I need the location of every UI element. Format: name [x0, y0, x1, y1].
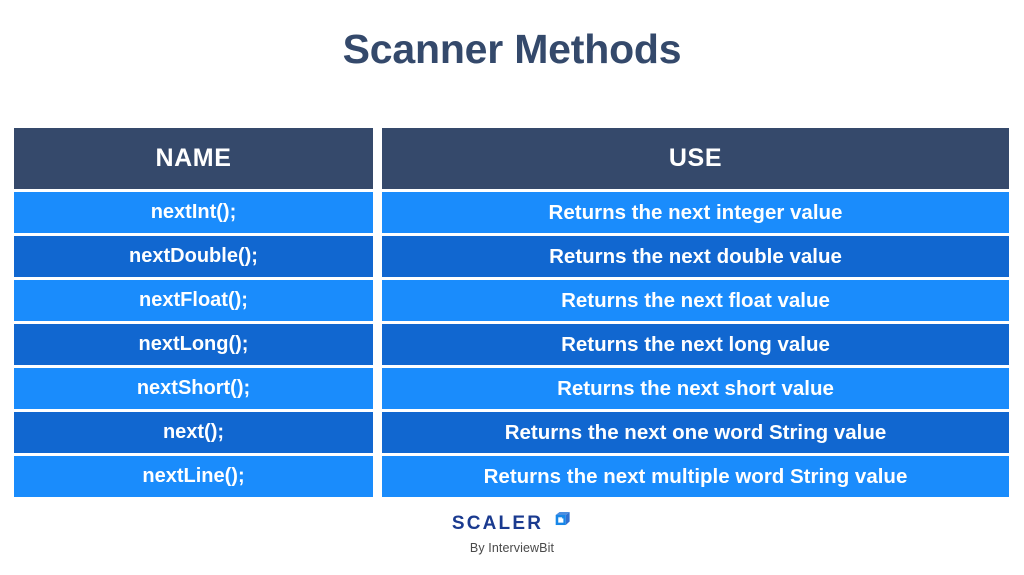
column-gap [373, 456, 382, 497]
cell-method-use: Returns the next integer value [382, 192, 1009, 233]
page-title: Scanner Methods [0, 26, 1024, 73]
table-row: nextFloat(); Returns the next float valu… [14, 280, 1009, 321]
cube-icon [550, 510, 572, 537]
column-gap [373, 280, 382, 321]
column-gap [373, 236, 382, 277]
cell-method-name: nextDouble(); [14, 236, 373, 277]
cell-method-use: Returns the next short value [382, 368, 1009, 409]
table-row: next(); Returns the next one word String… [14, 412, 1009, 453]
cell-method-name: next(); [14, 412, 373, 453]
column-gap [373, 128, 382, 189]
cell-method-use: Returns the next double value [382, 236, 1009, 277]
cell-method-use: Returns the next float value [382, 280, 1009, 321]
cell-method-use: Returns the next one word String value [382, 412, 1009, 453]
cell-method-name: nextInt(); [14, 192, 373, 233]
footer-branding: SCALER By InterviewBit [0, 510, 1024, 555]
table-row: nextLong(); Returns the next long value [14, 324, 1009, 365]
cell-method-name: nextLine(); [14, 456, 373, 497]
brand-tagline: By InterviewBit [0, 541, 1024, 555]
cell-method-name: nextLong(); [14, 324, 373, 365]
table-header-row: NAME USE [14, 128, 1009, 189]
table-row: nextDouble(); Returns the next double va… [14, 236, 1009, 277]
scanner-methods-table: NAME USE nextInt(); Returns the next int… [14, 128, 1009, 500]
cell-method-use: Returns the next long value [382, 324, 1009, 365]
column-gap [373, 368, 382, 409]
column-gap [373, 324, 382, 365]
table-row: nextShort(); Returns the next short valu… [14, 368, 1009, 409]
table-row: nextLine(); Returns the next multiple wo… [14, 456, 1009, 497]
column-header-name: NAME [14, 128, 373, 189]
cell-method-name: nextFloat(); [14, 280, 373, 321]
brand-logo: SCALER [0, 510, 1024, 537]
column-header-use: USE [382, 128, 1009, 189]
column-gap [373, 192, 382, 233]
table-row: nextInt(); Returns the next integer valu… [14, 192, 1009, 233]
cell-method-use: Returns the next multiple word String va… [382, 456, 1009, 497]
cell-method-name: nextShort(); [14, 368, 373, 409]
column-gap [373, 412, 382, 453]
brand-name: SCALER [452, 513, 543, 535]
